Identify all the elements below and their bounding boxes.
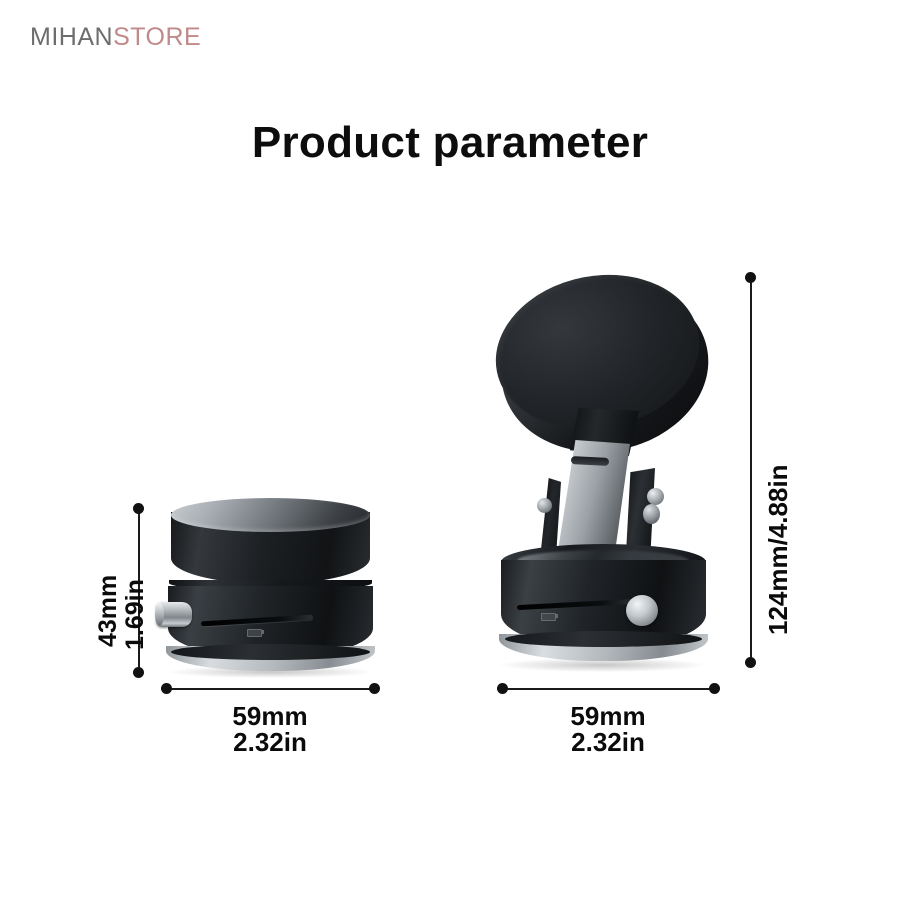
battery-tip <box>261 630 264 634</box>
product-image-folded <box>163 498 378 676</box>
side-knob-cap-folded <box>155 603 164 626</box>
dimension-label-left-height-mm: 43mm <box>95 575 122 647</box>
product-parameter-page: MIHANSTORE Product parameter 43mm 1.69in… <box>0 0 900 900</box>
dimension-dot-right-height-top <box>745 272 756 283</box>
dimension-dot-left-width-end <box>369 683 380 694</box>
dimension-dot-left-height-top <box>133 503 144 514</box>
pivot-screw-right-lower <box>643 504 660 524</box>
dimension-dot-right-width-end <box>709 683 720 694</box>
battery-indicator-icon <box>247 629 265 635</box>
dimension-label-left-height-in: 1.69in <box>122 579 149 650</box>
dimension-label-left-width-mm: 59mm <box>166 702 374 730</box>
base-rim-inner-folded <box>171 644 370 660</box>
dimension-dot-right-width-start <box>497 683 508 694</box>
dimension-dot-left-width-start <box>161 683 172 694</box>
battery-body <box>247 629 262 637</box>
brand-name-secondary: STORE <box>113 23 201 51</box>
pivot-screw-right-upper <box>647 488 664 505</box>
battery-indicator-icon-extended <box>541 613 559 619</box>
dimension-line-left-width <box>166 688 374 690</box>
side-knob-extended <box>626 595 658 626</box>
brand-logo: MIHANSTORE <box>30 23 201 52</box>
product-image-extended <box>495 272 725 672</box>
base-rim-inner-extended <box>505 631 702 647</box>
dimension-label-left-width-in: 2.32in <box>166 728 374 756</box>
battery-body-extended <box>541 613 556 621</box>
page-title: Product parameter <box>0 118 900 168</box>
dimension-line-right-width <box>502 688 714 690</box>
dimension-dot-right-height-bottom <box>745 657 756 668</box>
battery-tip-extended <box>555 614 558 618</box>
dimension-dot-left-height-bottom <box>133 667 144 678</box>
dimension-line-right-height <box>750 282 752 667</box>
dimension-label-right-width-mm: 59mm <box>502 702 714 730</box>
puck-top-face-folded <box>171 498 370 532</box>
pivot-screw-left <box>537 498 552 513</box>
dimension-label-right-height: 124mm/4.88in <box>765 464 793 635</box>
brand-name-primary: MIHAN <box>30 23 113 51</box>
dimension-label-right-width-in: 2.32in <box>502 728 714 756</box>
